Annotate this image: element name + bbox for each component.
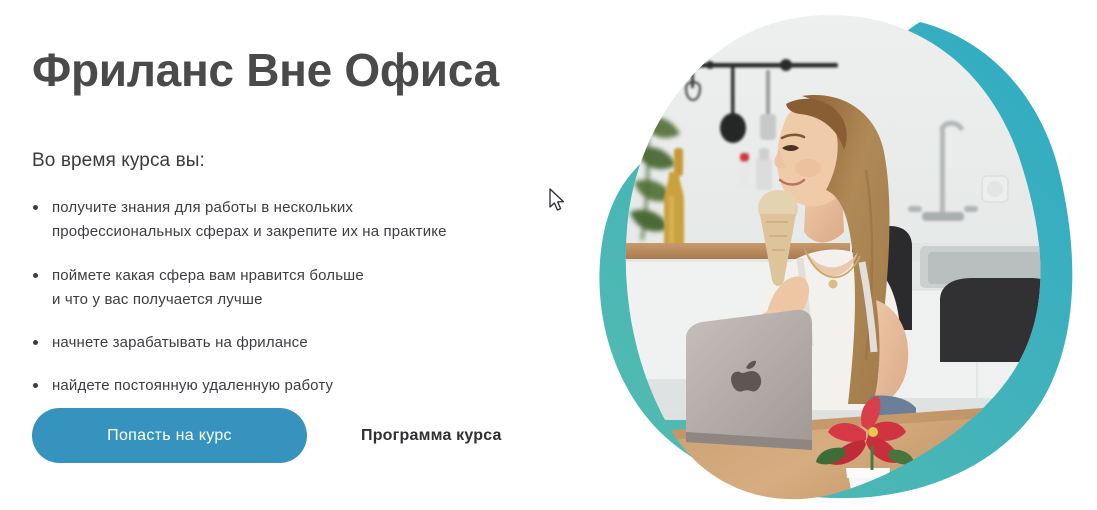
bullet-dot-icon — [33, 340, 38, 345]
page-title: Фриланс Вне Офиса — [32, 46, 499, 94]
cta-row: Попасть на курс Программа курса — [32, 408, 502, 463]
hero-artwork — [590, 0, 1097, 510]
course-program-link[interactable]: Программа курса — [361, 427, 502, 445]
list-item-line-1: найдете постоянную удаленную работу — [52, 374, 552, 398]
list-item-line-1: поймете какая сфера вам нравится больше — [52, 264, 552, 288]
hero-subtitle: Во время курса вы: — [32, 150, 205, 172]
list-item: начнете зарабатывать на фрилансе — [32, 331, 552, 355]
list-item-line-1: получите знания для работы в нескольких — [52, 196, 552, 220]
list-item-line-2: профессиональных сферах и закрепите их н… — [52, 220, 552, 244]
hero-section: Фриланс Вне Офиса Во время курса вы: пол… — [0, 0, 1097, 510]
list-item-line-1: начнете зарабатывать на фрилансе — [52, 331, 552, 355]
enroll-button[interactable]: Попасть на курс — [32, 408, 307, 463]
bullet-dot-icon — [33, 205, 38, 210]
list-item-line-2: и что у вас получается лучше — [52, 288, 552, 312]
list-item: получите знания для работы в нескольких … — [32, 196, 552, 245]
list-item: поймете какая сфера вам нравится больше … — [32, 264, 552, 313]
list-item: найдете постоянную удаленную работу — [32, 374, 552, 398]
bullet-dot-icon — [33, 273, 38, 278]
silver-laptop — [686, 310, 812, 450]
bullet-dot-icon — [33, 383, 38, 388]
benefits-list: получите знания для работы в нескольких … — [32, 196, 552, 399]
hero-text-column: Фриланс Вне Офиса Во время курса вы: пол… — [30, 0, 590, 510]
